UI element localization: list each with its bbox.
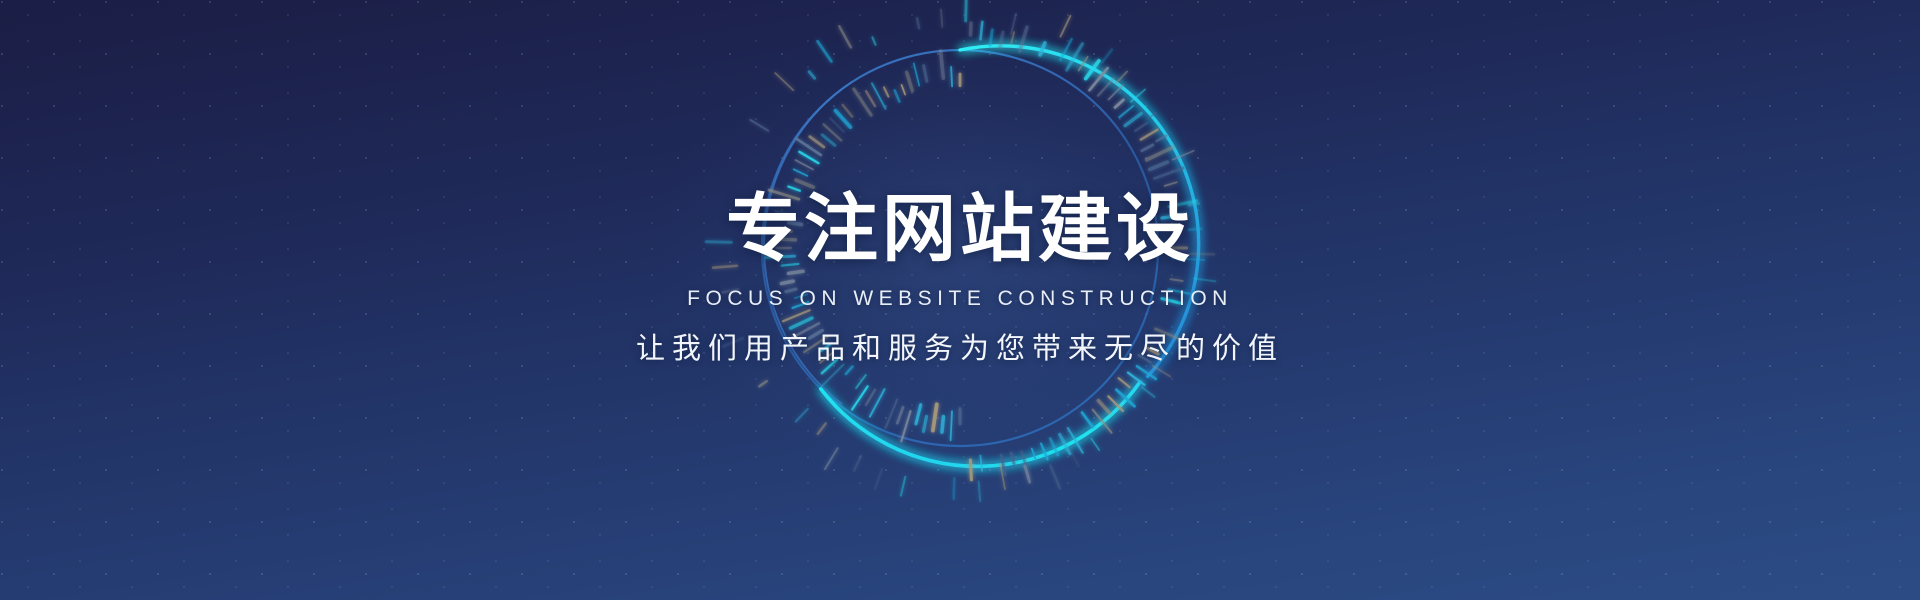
ring-arc-cyan-bottom: [821, 382, 1140, 466]
page-subtitle: FOCUS ON WEBSITE CONSTRUCTION: [687, 288, 1233, 309]
tick-mark: [793, 302, 809, 308]
tick-mark: [775, 211, 792, 214]
tick-mark: [797, 139, 821, 155]
tick-mark-outer: [979, 481, 981, 501]
tick-mark-outer: [796, 409, 808, 422]
tick-mark: [1154, 168, 1183, 178]
tick-mark: [852, 386, 868, 409]
tick-mark: [836, 111, 851, 128]
tick-mark: [1068, 428, 1083, 453]
tick-mark: [854, 89, 871, 115]
tick-mark: [1000, 32, 1003, 47]
tick-mark: [1011, 453, 1014, 464]
tick-mark: [766, 256, 795, 257]
tick-mark: [970, 460, 971, 480]
tick-mark: [1022, 452, 1030, 477]
tick-mark: [1125, 114, 1141, 126]
tick-mark: [1040, 43, 1045, 55]
tick-mark: [799, 152, 818, 163]
tick-mark-outer: [901, 477, 905, 496]
tick-mark: [1060, 435, 1070, 454]
tick-mark: [1041, 444, 1048, 460]
tick-mark: [791, 323, 819, 338]
page-tagline: 让我们用产品和服务为您带来无尽的价值: [636, 335, 1284, 364]
tick-mark: [1115, 100, 1124, 108]
tick-mark: [809, 331, 822, 339]
tick-mark: [820, 354, 831, 363]
tick-mark: [822, 365, 844, 387]
tick-mark: [1156, 329, 1179, 339]
tick-mark: [1128, 373, 1144, 385]
tick-mark-outer: [1116, 72, 1127, 84]
tick-mark: [856, 375, 866, 388]
tick-mark: [866, 390, 875, 405]
tick-mark: [897, 407, 903, 423]
tick-mark: [1001, 455, 1005, 475]
tick-mark: [810, 137, 824, 147]
tick-mark-outer: [1061, 16, 1071, 37]
tick-mark: [914, 63, 920, 85]
center-glow: [660, 60, 1260, 480]
tick-mark: [796, 180, 813, 187]
tick-mark: [804, 336, 828, 352]
tick-mark-outer: [1091, 439, 1099, 451]
tick-mark: [1050, 439, 1058, 456]
tick-mark: [901, 411, 910, 441]
tick-mark: [1060, 39, 1071, 60]
tick-mark-outer: [954, 478, 955, 499]
tick-mark: [866, 91, 875, 106]
tick-mark: [1079, 57, 1088, 71]
tick-mark-outer: [1142, 388, 1154, 397]
tick-mark: [916, 405, 921, 424]
tick-mark: [796, 160, 814, 169]
tick-mark: [1090, 68, 1108, 90]
tick-mark-outer: [1102, 50, 1112, 62]
tick-mark-outer: [917, 18, 919, 28]
tick-mark-outer: [723, 338, 743, 346]
hero-banner: 专注网站建设 FOCUS ON WEBSITE CONSTRUCTION 让我们…: [0, 0, 1920, 600]
tick-mark: [1168, 289, 1191, 294]
tick-mark: [1141, 130, 1158, 140]
tick-mark: [1086, 61, 1099, 79]
tick-mark: [777, 239, 796, 240]
tick-mark-outer: [875, 469, 882, 489]
tick-mark: [942, 417, 944, 433]
tick-mark: [1162, 215, 1185, 218]
tick-mark: [872, 83, 886, 108]
tick-mark: [895, 90, 900, 101]
tick-mark: [981, 22, 983, 40]
tick-mark: [782, 264, 799, 266]
ring-base-circle: [762, 50, 1158, 446]
tick-mark: [1165, 226, 1181, 228]
ring-arc-cyan-right: [960, 46, 1199, 377]
tick-mark: [1135, 123, 1147, 131]
tick-mark-outer: [941, 10, 942, 27]
tick-mark: [1137, 366, 1156, 379]
tick-mark: [1171, 279, 1183, 281]
dotted-grid-pattern: [0, 0, 1920, 600]
tick-mark: [1139, 355, 1151, 362]
tick-mark-outer: [723, 289, 738, 292]
tick-mark-outer: [713, 266, 737, 268]
tick-mark: [951, 67, 952, 86]
tick-mark: [1032, 449, 1036, 460]
tick-mark: [1173, 258, 1205, 260]
tick-mark-outer: [1156, 136, 1166, 141]
tick-mark: [1162, 299, 1180, 303]
tick-mark: [870, 389, 885, 416]
tick-mark: [907, 72, 913, 90]
tick-mark: [782, 281, 794, 283]
tick-mark: [1098, 79, 1114, 96]
tick-mark-outer: [1131, 89, 1145, 101]
tick-mark: [822, 359, 837, 373]
tick-mark-outer: [839, 26, 851, 47]
tick-mark: [1148, 349, 1158, 354]
tick-mark: [1082, 413, 1093, 428]
tick-mark-outer: [1189, 229, 1201, 230]
ring-arc-dim-left: [764, 82, 852, 404]
tick-mark: [1093, 410, 1112, 433]
tick-mark-outer: [750, 120, 768, 131]
tick-mark: [843, 105, 853, 117]
tick-mark-outer: [1069, 448, 1079, 466]
tick-mark-outer: [818, 41, 832, 61]
tick-mark-outer: [775, 73, 793, 90]
page-title: 专注网站建设: [726, 192, 1194, 266]
tick-mark: [1109, 85, 1123, 99]
tick-mark-outer: [759, 381, 766, 386]
tick-mark: [980, 456, 982, 471]
tick-mark-outer: [854, 456, 861, 471]
tick-mark: [1142, 145, 1153, 151]
tick-mark: [1162, 195, 1173, 198]
tick-mark: [1119, 378, 1130, 387]
tick-mark-outer: [1153, 366, 1171, 377]
tick-mark-outer: [1149, 113, 1156, 118]
tick-mark: [1067, 44, 1083, 70]
tick-mark: [1011, 32, 1014, 43]
tick-mark-outer: [1051, 466, 1060, 488]
tick-mark-outer: [706, 242, 731, 243]
tick-mark: [788, 187, 799, 191]
circular-ring-graphic: [0, 0, 1920, 600]
tick-mark-outer: [1000, 465, 1005, 490]
tick-mark-outer: [1191, 254, 1214, 255]
tick-mark: [1169, 201, 1197, 207]
tick-mark: [990, 30, 992, 46]
tick-mark: [933, 404, 937, 430]
tick-mark: [824, 124, 842, 140]
tick-mark: [1116, 390, 1134, 407]
tick-mark-outer: [872, 37, 875, 44]
tick-mark: [821, 344, 830, 351]
tick-mark-outer: [809, 72, 815, 79]
tick-mark: [794, 169, 808, 176]
tick-mark: [941, 51, 944, 78]
tick-mark: [1098, 401, 1109, 413]
tick-mark: [830, 118, 844, 132]
tick-mark: [1108, 396, 1123, 411]
tick-mark: [1020, 27, 1027, 51]
tick-mark: [790, 318, 812, 328]
tick-mark: [769, 190, 799, 199]
tick-mark: [951, 411, 952, 440]
tick-mark-outer: [966, 0, 967, 21]
tick-mark-outer: [818, 424, 826, 434]
tick-mark-outer: [1011, 14, 1016, 34]
tick-mark: [1147, 148, 1173, 160]
tick-mark: [786, 289, 796, 292]
tick-mark: [924, 416, 927, 431]
tick-mark: [1150, 162, 1168, 169]
tick-mark: [846, 367, 853, 375]
tick-mark: [884, 87, 888, 96]
tick-mark: [886, 399, 898, 428]
radial-tick-marks: [706, 0, 1215, 501]
tick-mark: [822, 135, 835, 145]
tick-mark-outer: [1025, 466, 1030, 482]
tick-mark: [902, 85, 906, 95]
tick-mark: [1165, 182, 1177, 186]
tick-mark-outer: [825, 448, 838, 469]
tick-mark-outer: [1194, 279, 1216, 282]
tick-mark: [1119, 106, 1133, 117]
tick-mark: [924, 66, 927, 82]
tick-mark: [971, 23, 972, 35]
tick-mark: [789, 223, 801, 225]
tick-mark: [783, 310, 810, 321]
tick-mark-outer: [1189, 203, 1199, 205]
tick-mark: [789, 271, 804, 273]
tick-mark-outer: [1173, 151, 1194, 160]
tick-mark: [795, 294, 807, 298]
dotted-grid-pattern-fine: [0, 0, 1920, 600]
hero-text-block: 专注网站建设 FOCUS ON WEBSITE CONSTRUCTION 让我们…: [0, 0, 1920, 364]
tick-mark: [776, 230, 792, 232]
